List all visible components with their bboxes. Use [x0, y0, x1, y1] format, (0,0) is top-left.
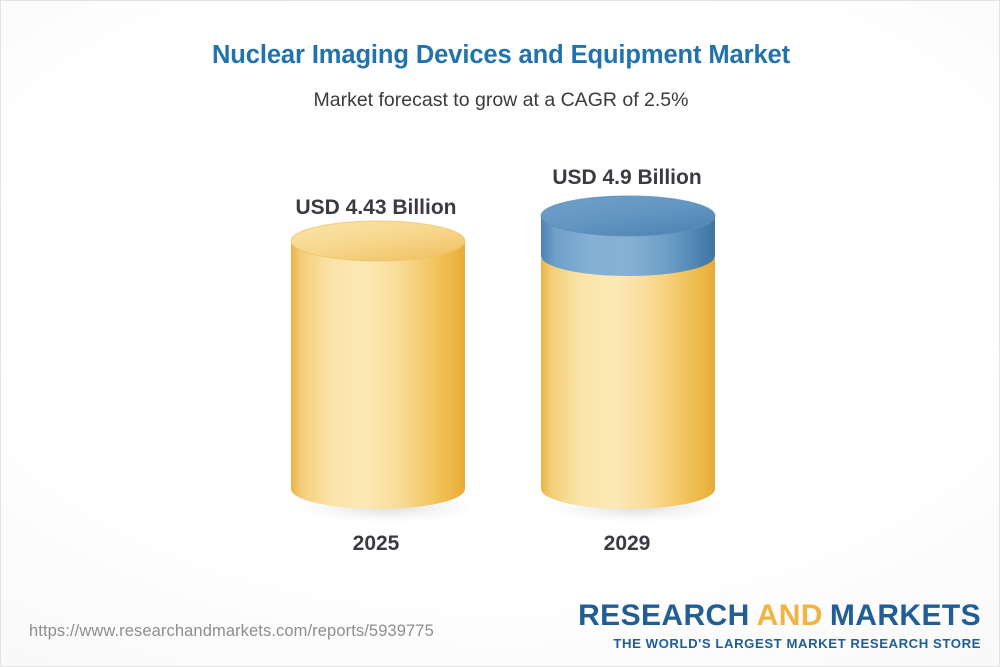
logo-word-and: AND: [757, 599, 823, 632]
bar-cylinder-2029: [533, 194, 723, 524]
research-and-markets-logo: RESEARCHANDMARKETS THE WORLD'S LARGEST M…: [578, 601, 981, 650]
bar-category-label-2029: 2029: [497, 532, 757, 556]
bar-value-label-2029: USD 4.9 Billion: [497, 166, 757, 190]
chart-canvas: Nuclear Imaging Devices and Equipment Ma…: [0, 0, 1000, 667]
source-url[interactable]: https://www.researchandmarkets.com/repor…: [29, 622, 434, 641]
bar-cylinder-2025: [283, 219, 473, 524]
logo-wordmark: RESEARCHANDMARKETS: [578, 601, 981, 631]
bar-value-label-2025: USD 4.43 Billion: [246, 196, 506, 220]
bar-category-label-2025: 2025: [246, 532, 506, 556]
logo-word-research: RESEARCH: [578, 599, 750, 632]
logo-word-markets: MARKETS: [830, 599, 981, 632]
chart-plot-area: USD 4.43 Billion: [1, 1, 1000, 667]
logo-tagline: THE WORLD'S LARGEST MARKET RESEARCH STOR…: [578, 637, 981, 650]
